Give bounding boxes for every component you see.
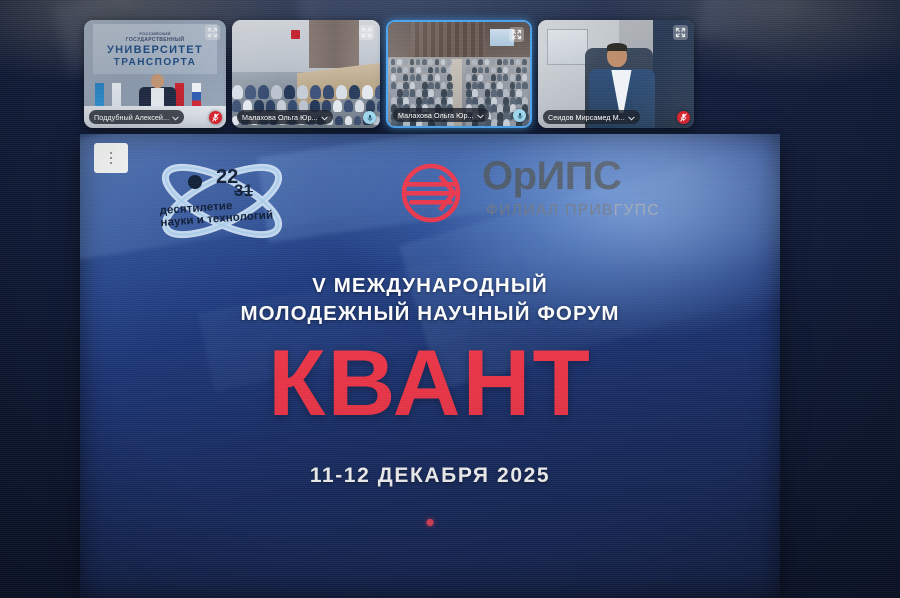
screenshot-stage: РОССИЙСКИЙ ГОСУДАРСТВЕННЫЙ УНИВЕРСИТЕТ Т… xyxy=(0,0,900,598)
photo-vignette xyxy=(0,0,900,598)
